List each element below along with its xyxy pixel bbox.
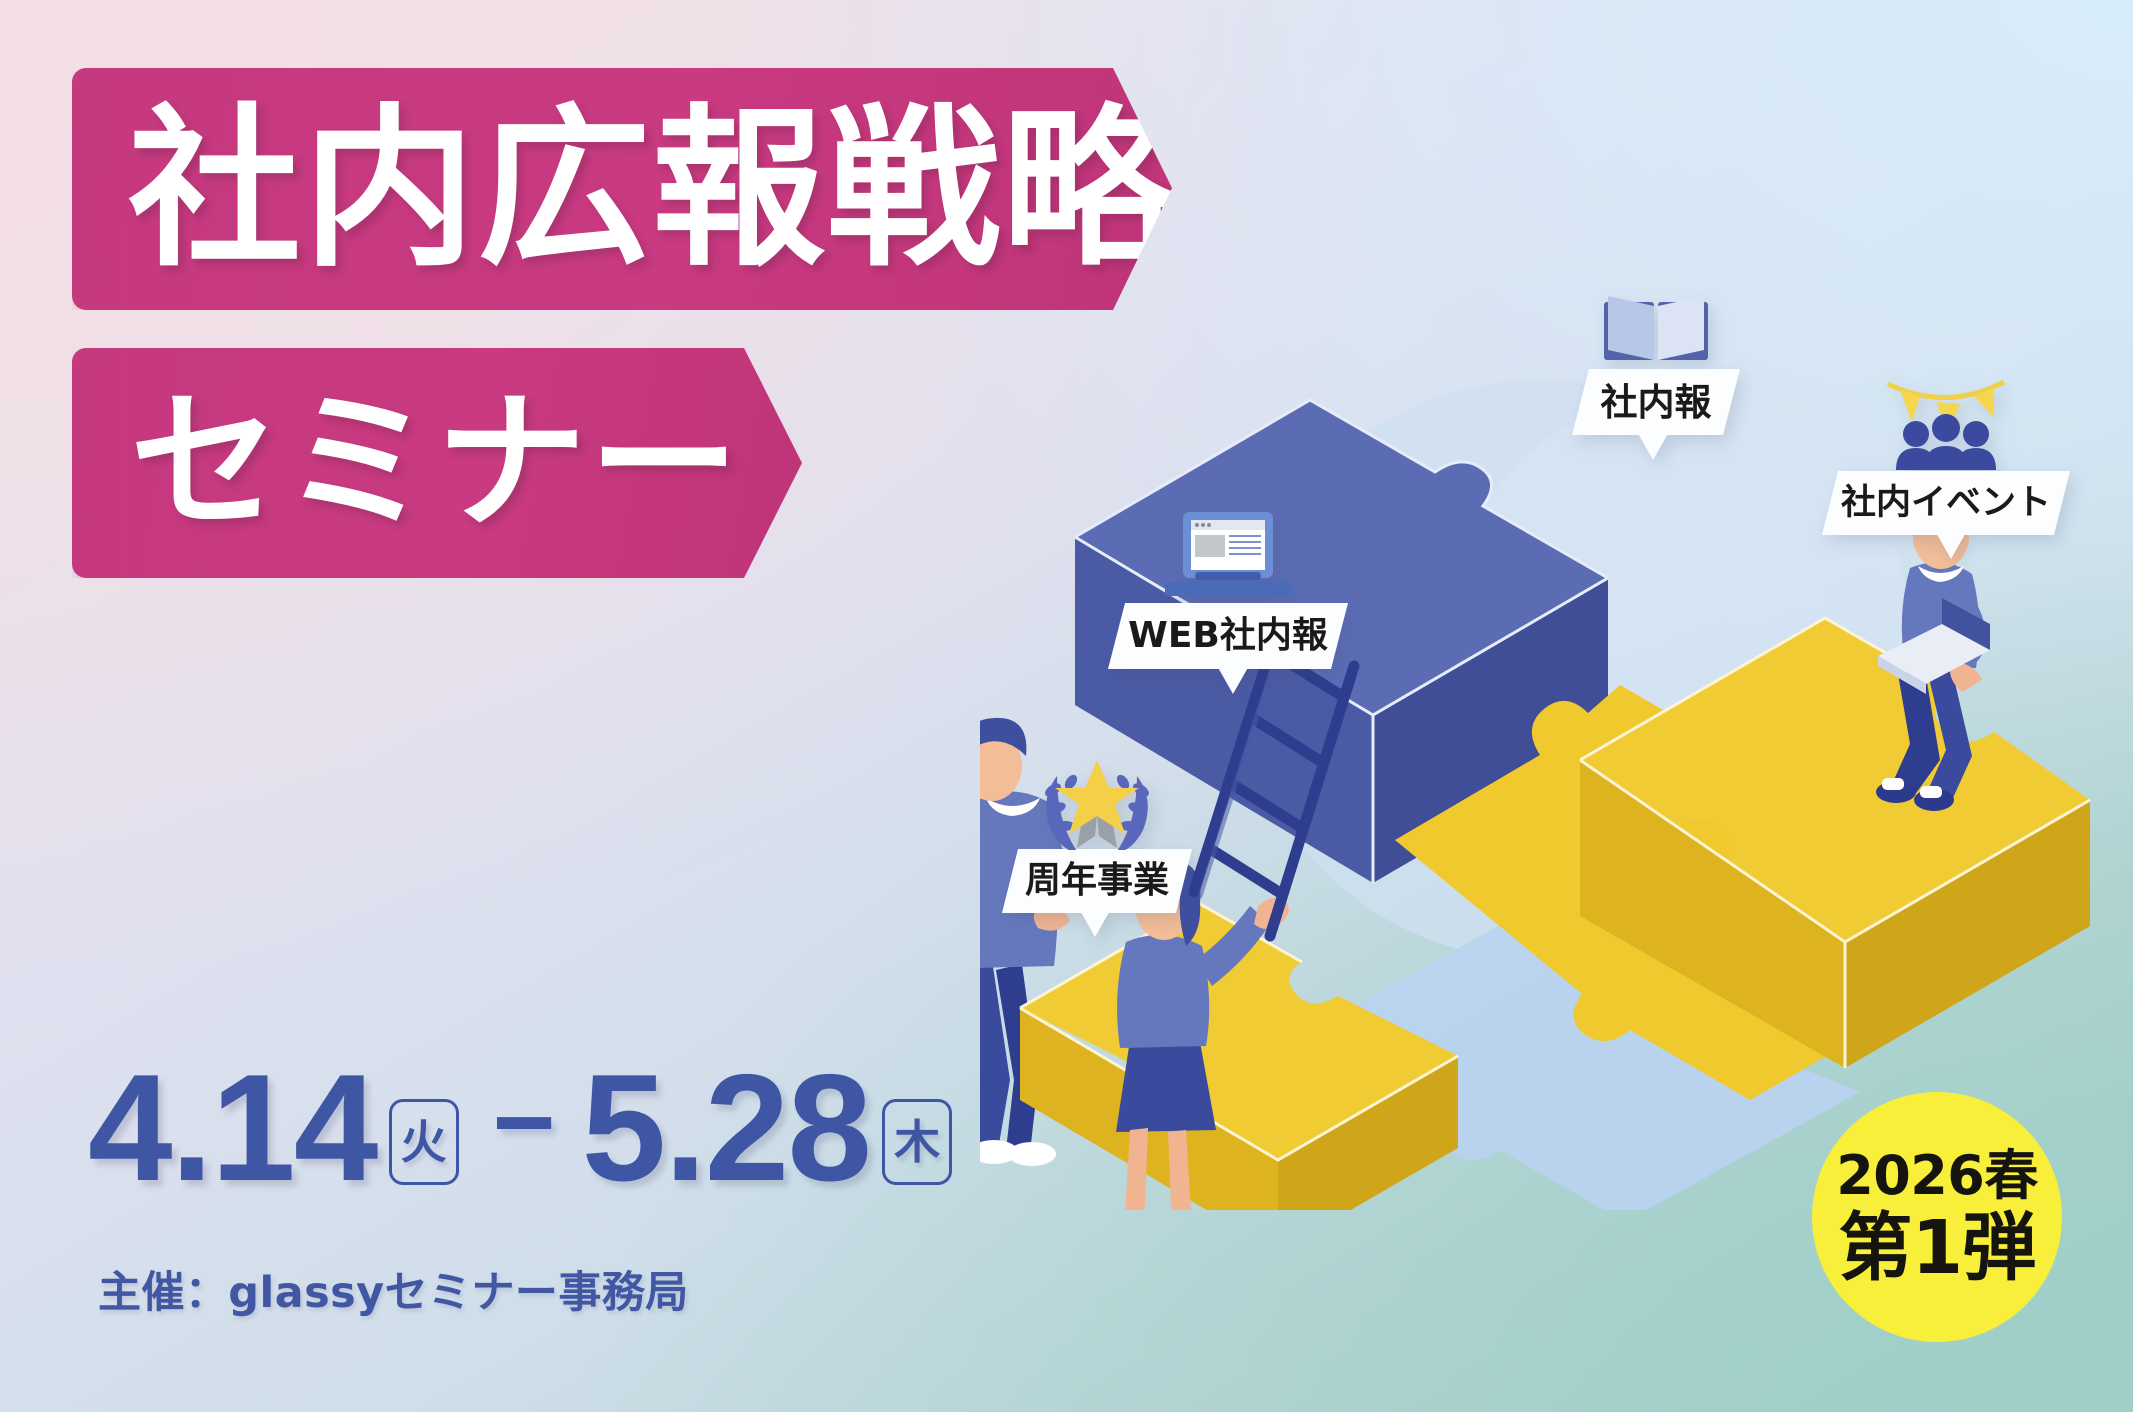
event-date-range: 4.14 火 − 5.28 木	[88, 1052, 956, 1204]
award-laurel-icon	[1027, 752, 1167, 855]
organizer-label: 主催：glassyセミナー事務局	[98, 1258, 689, 1320]
season-badge: 2026春 第1弾	[1812, 1092, 2062, 1342]
badge-line-2: 第1弾	[1838, 1211, 2035, 1285]
start-day-of-week: 火	[389, 1099, 459, 1185]
people-bunting-icon	[1876, 372, 2016, 477]
open-book-icon	[1600, 290, 1712, 375]
title-ribbon-primary: 社内広報戦略	[72, 68, 1172, 310]
badge-line-1: 2026春	[1836, 1149, 2038, 1203]
callout-shanaiho: 社内報	[1572, 290, 1740, 435]
end-date: 5.28	[582, 1052, 871, 1204]
callout-label: 周年事業	[1002, 849, 1192, 913]
poster-canvas: 社内報 社内イベント	[0, 0, 2133, 1412]
start-date: 4.14	[88, 1052, 377, 1204]
callout-label: WEB社内報	[1108, 603, 1348, 669]
puzzle-illustration	[980, 200, 2133, 1210]
callout-shanai-event: 社内イベント	[1822, 372, 2070, 535]
callout-anniversary: 周年事業	[1002, 752, 1192, 913]
date-separator: −	[493, 1068, 556, 1176]
callout-web-shanaiho: WEB社内報	[1108, 508, 1348, 669]
title-ribbon-secondary: セミナー	[72, 348, 802, 578]
callout-label: 社内報	[1572, 369, 1740, 435]
end-day-of-week: 木	[882, 1099, 952, 1185]
callout-label: 社内イベント	[1822, 471, 2070, 535]
page-title-line-2: セミナー	[130, 388, 742, 538]
page-title-line-1: 社内広報戦略	[128, 103, 1176, 276]
laptop-icon	[1155, 508, 1301, 609]
